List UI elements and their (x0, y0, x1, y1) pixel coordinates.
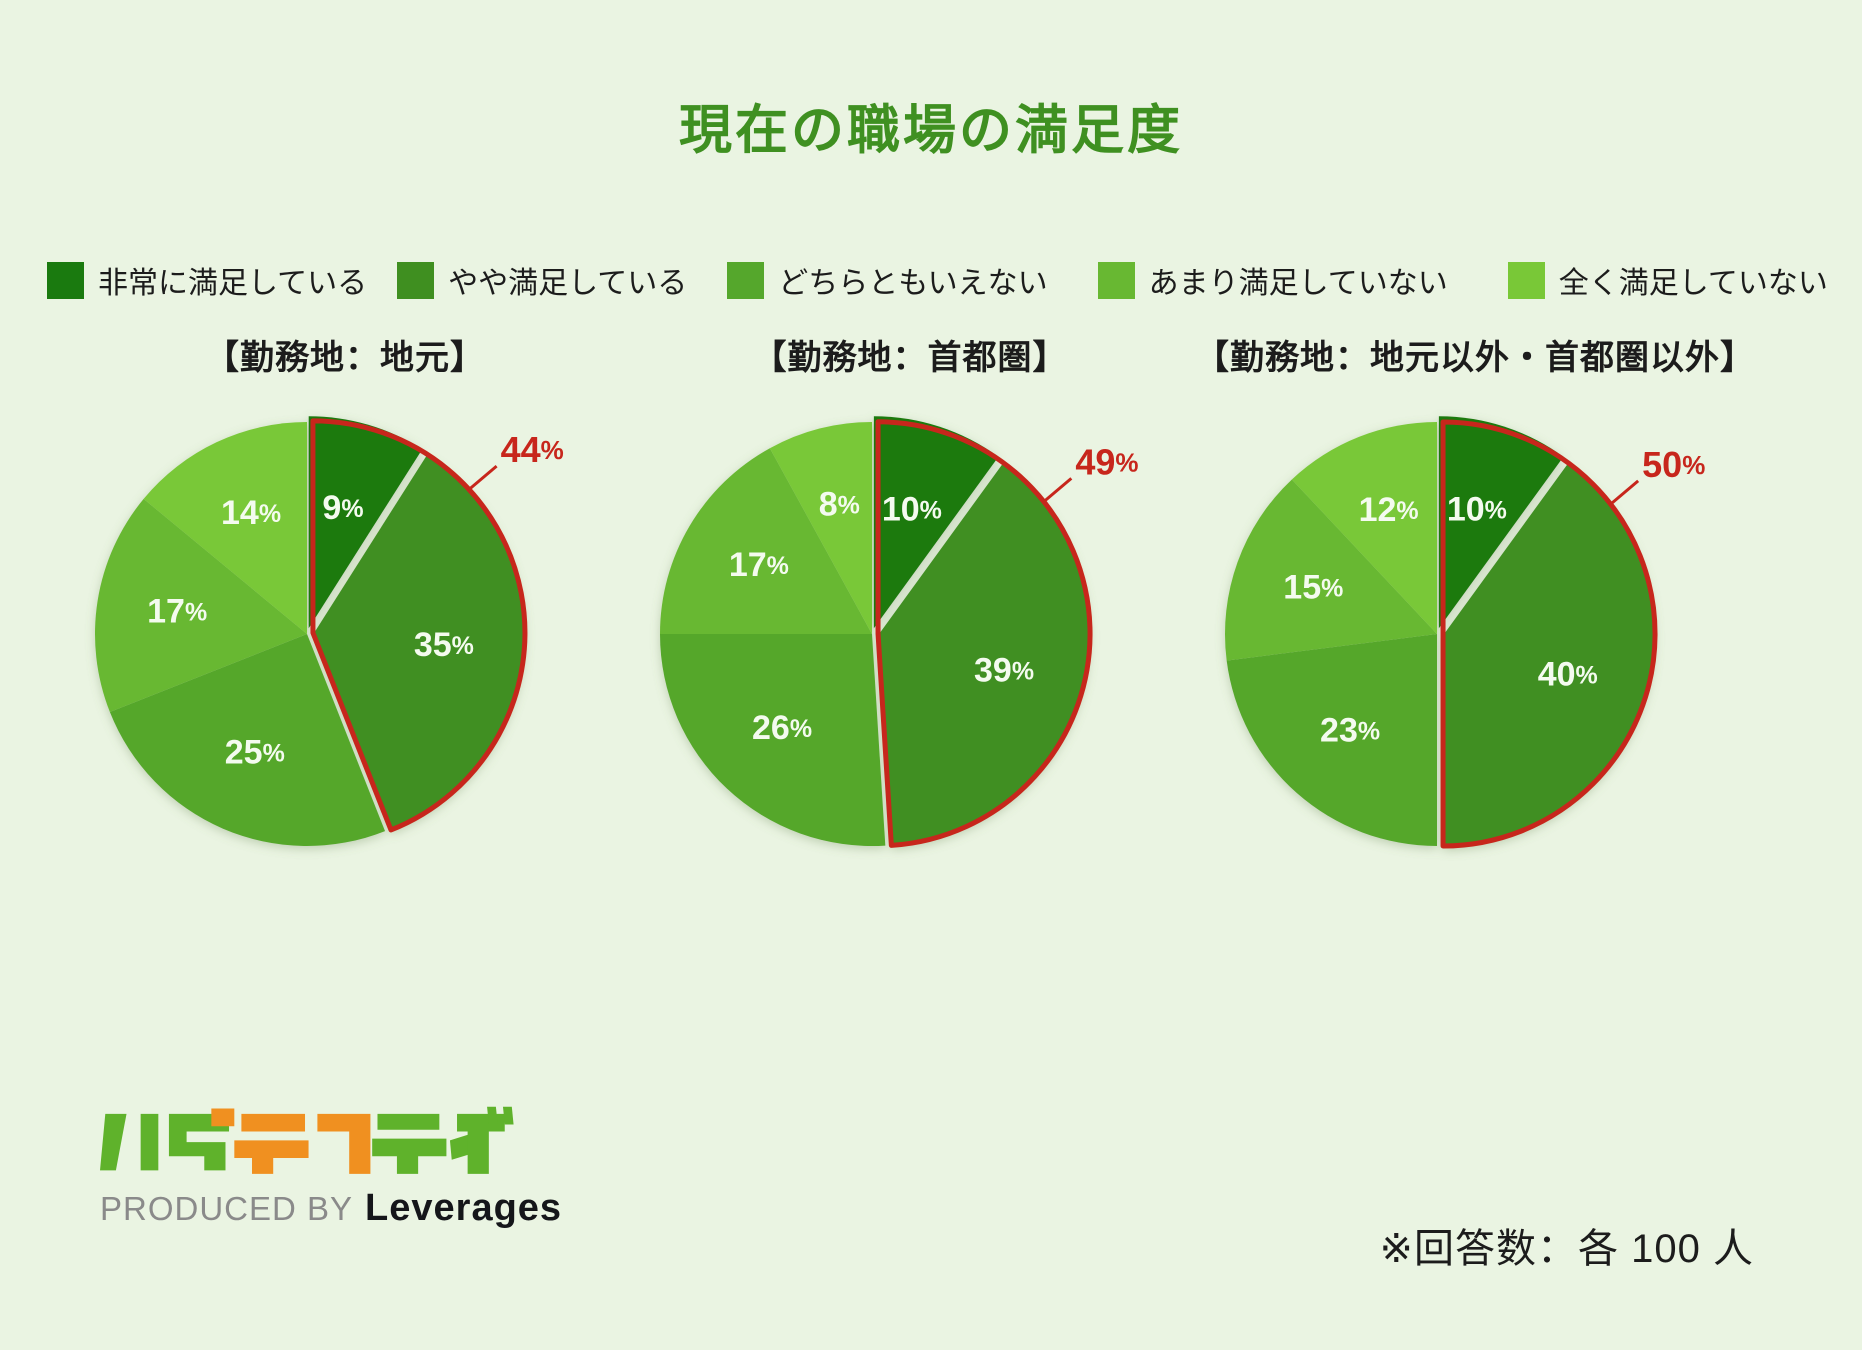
pie-slice-label: 8% (819, 486, 860, 524)
legend-item-1: 非常に満足している (47, 258, 367, 302)
logo-produced-by: PRODUCED BY (100, 1190, 353, 1228)
pie-chart-heading: 【勤務地：首都圏】 (600, 330, 1220, 379)
legend-item-3: どちらともいえない (727, 258, 1047, 302)
pie-slice-label: 10% (882, 490, 942, 528)
brand-logo: PRODUCED BY Leverages (100, 1105, 620, 1230)
pie-slice-label: 14% (221, 494, 281, 532)
pie-slice-label: 12% (1359, 491, 1419, 529)
callout-value: 50% (1642, 443, 1705, 484)
pie-chart-heading: 【勤務地：地元以外・首都圏以外】 (1165, 330, 1785, 379)
legend-swatch-icon (47, 262, 84, 299)
legend-swatch-icon (397, 262, 434, 299)
logo-tagline: PRODUCED BY Leverages (100, 1187, 620, 1230)
legend-item-5: 全く満足していない (1508, 258, 1828, 302)
legend-swatch-icon (1098, 262, 1135, 299)
callout-value: 49% (1075, 441, 1138, 482)
pie-chart-2: 【勤務地：首都圏】49%10%39%26%17%8% (600, 330, 1220, 890)
legend-item-2: やや満足している (397, 258, 687, 302)
pie-slice-label: 15% (1283, 568, 1343, 606)
pie-chart-heading: 【勤務地：地元】 (35, 330, 655, 379)
legend-label: どちらともいえない (778, 258, 1047, 302)
callout-leader-line (471, 466, 497, 488)
pie-slice-label: 23% (1320, 712, 1380, 750)
legend-label: 非常に満足している (98, 258, 367, 302)
pie-slice-label: 25% (225, 734, 285, 772)
legend: 非常に満足しているやや満足しているどちらともいえないあまり満足していない全く満足… (47, 258, 1827, 302)
pie-canvas: 49%10%39%26%17%8% (600, 392, 1220, 892)
pie-slice-label: 17% (147, 592, 207, 630)
pie-slice-label: 17% (729, 546, 789, 584)
pie-slice-label: 9% (322, 489, 363, 527)
legend-item-4: あまり満足していない (1098, 258, 1448, 302)
page-title: 現在の職場の満足度 (0, 88, 1862, 164)
respondents-note: ※回答数：各 100 人 (1380, 1216, 1754, 1274)
hatarakutive-logo-icon (100, 1105, 515, 1181)
pie-canvas: 50%10%40%23%15%12% (1165, 392, 1785, 892)
pie-chart-1: 【勤務地：地元】44%9%35%25%17%14% (35, 330, 655, 890)
pie-canvas: 44%9%35%25%17%14% (35, 392, 655, 892)
pie-slice-label: 10% (1447, 490, 1507, 528)
callout-value: 44% (501, 429, 564, 470)
legend-swatch-icon (727, 262, 764, 299)
legend-label: やや満足している (448, 258, 687, 302)
pie-slice-label: 39% (974, 651, 1034, 689)
legend-label: 全く満足していない (1559, 258, 1828, 302)
pie-chart-3: 【勤務地：地元以外・首都圏以外】50%10%40%23%15%12% (1165, 330, 1785, 890)
pie-slice-label: 26% (752, 709, 812, 747)
callout-leader-line (1612, 481, 1638, 503)
legend-swatch-icon (1508, 262, 1545, 299)
pie-slice-label: 40% (1538, 655, 1598, 693)
charts-row: 【勤務地：地元】44%9%35%25%17%14%【勤務地：首都圏】49%10%… (0, 330, 1862, 890)
logo-brand-name: Leverages (365, 1187, 562, 1230)
pie-slice-label: 35% (414, 626, 474, 664)
legend-label: あまり満足していない (1149, 258, 1448, 302)
callout-leader-line (1045, 478, 1071, 500)
